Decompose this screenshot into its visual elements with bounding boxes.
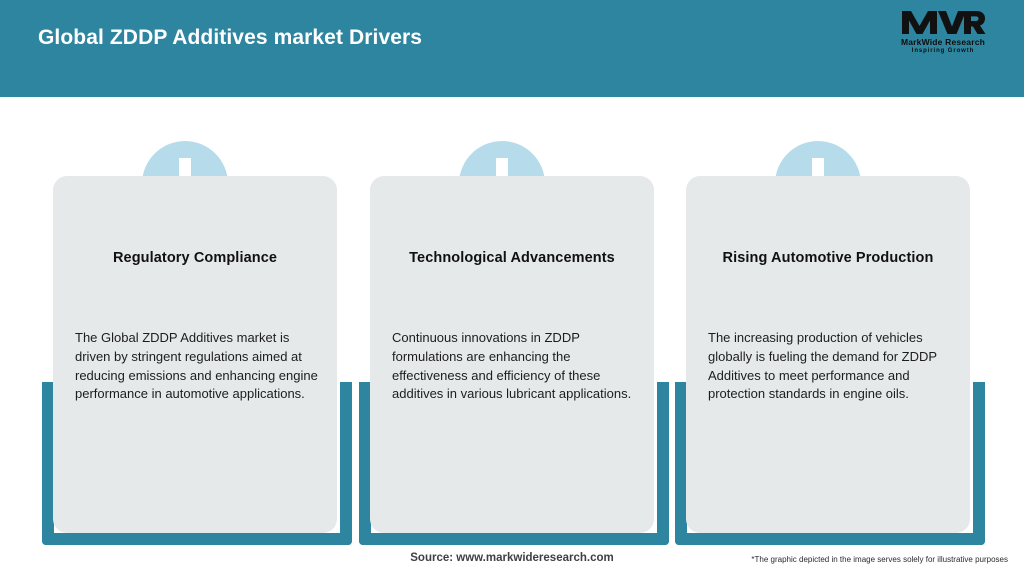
page-header: Global ZDDP Additives market Drivers Mar…: [0, 0, 1024, 97]
driver-card-1: Regulatory Compliance The Global ZDDP Ad…: [38, 97, 356, 552]
driver-card-surface: Regulatory Compliance The Global ZDDP Ad…: [53, 176, 337, 533]
drivers-card-row: Regulatory Compliance The Global ZDDP Ad…: [0, 97, 1024, 552]
driver-card-surface: Technological Advancements Continuous in…: [370, 176, 654, 533]
driver-card-body: The increasing production of vehicles gl…: [708, 329, 954, 404]
page-title: Global ZDDP Additives market Drivers: [38, 26, 422, 50]
driver-card-surface: Rising Automotive Production The increas…: [686, 176, 970, 533]
mwr-logo-icon: [884, 8, 1002, 36]
page-footer: Source: www.markwideresearch.com *The gr…: [0, 552, 1024, 576]
logo-company-name: MarkWide Research: [884, 37, 1002, 47]
driver-card-2: Technological Advancements Continuous in…: [355, 97, 673, 552]
driver-card-title: Technological Advancements: [380, 250, 644, 266]
logo-tagline: Inspiring Growth: [884, 48, 1002, 54]
markwide-research-logo: MarkWide Research Inspiring Growth: [884, 8, 1002, 64]
driver-card-title: Regulatory Compliance: [63, 250, 327, 266]
driver-card-body: Continuous innovations in ZDDP formulati…: [392, 329, 638, 404]
driver-card-3: Rising Automotive Production The increas…: [671, 97, 989, 552]
disclaimer-note: *The graphic depicted in the image serve…: [751, 555, 1008, 564]
driver-card-title: Rising Automotive Production: [696, 250, 960, 266]
driver-card-body: The Global ZDDP Additives market is driv…: [75, 329, 321, 404]
